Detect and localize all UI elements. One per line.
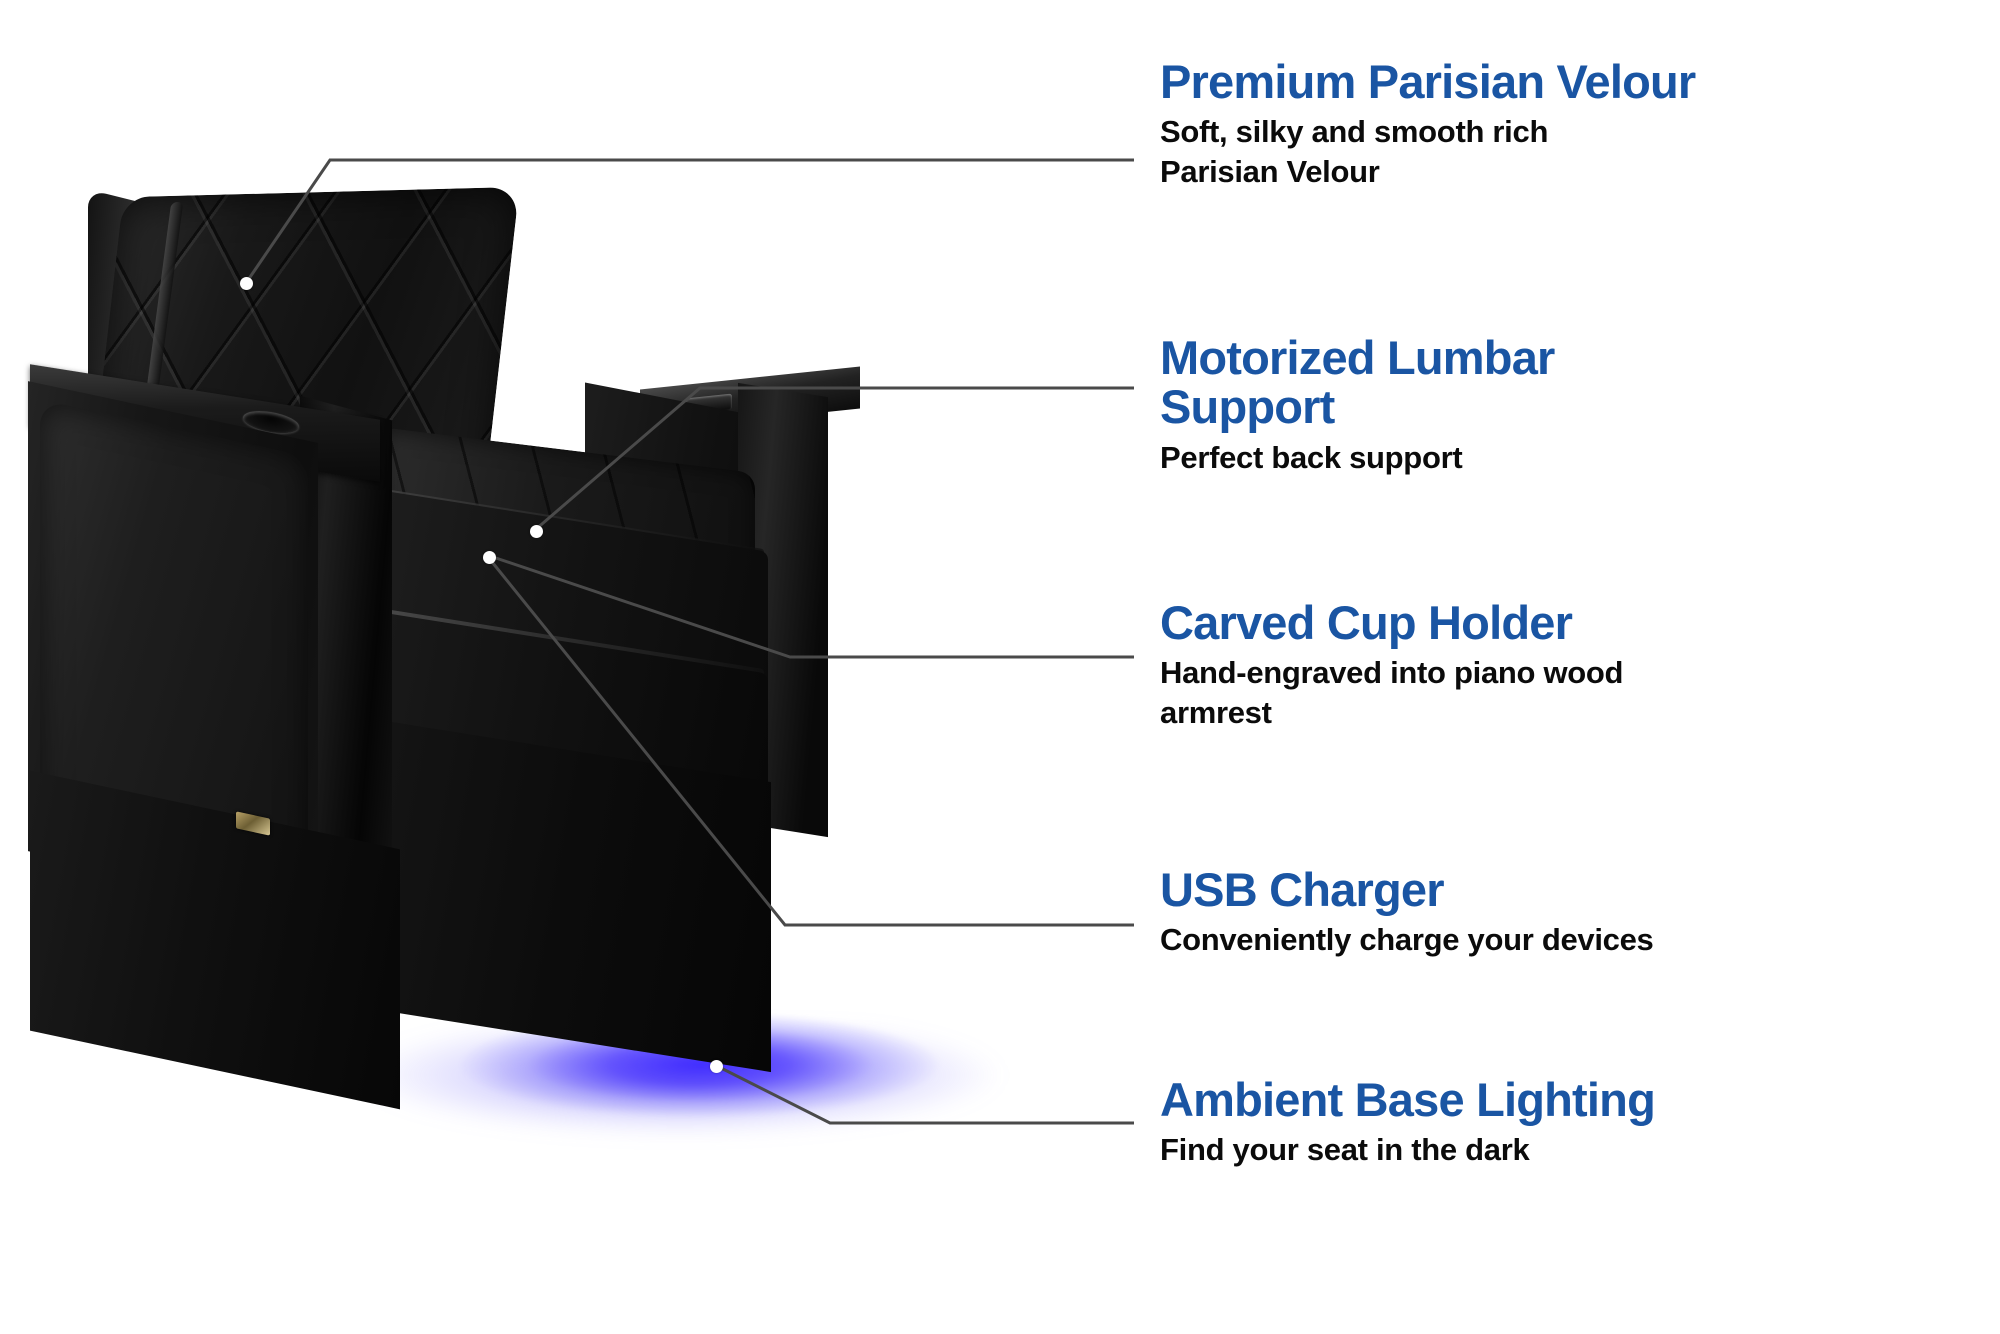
feature-description: Hand-engraved into piano wood armrest — [1160, 653, 1980, 732]
product-image — [0, 150, 1120, 1180]
feature-description-line: armrest — [1160, 695, 1272, 730]
feature-description-line: Parisian Velour — [1160, 154, 1380, 189]
feature-title: Premium Parisian Velour — [1160, 57, 1980, 106]
feature-premium-parisian-velour: Premium Parisian Velour Soft, silky and … — [1160, 57, 1980, 192]
feature-title: Ambient Base Lighting — [1160, 1075, 1980, 1124]
feature-description: Find your seat in the dark — [1160, 1130, 1980, 1170]
marker-dot-lumbar — [530, 525, 543, 538]
feature-motorized-lumbar-support: Motorized Lumbar Support Perfect back su… — [1160, 333, 1980, 477]
feature-title: USB Charger — [1160, 865, 1980, 914]
feature-description-line: Soft, silky and smooth rich — [1160, 114, 1548, 149]
feature-title: Motorized Lumbar Support — [1160, 333, 1980, 432]
feature-description: Perfect back support — [1160, 438, 1980, 478]
feature-description: Conveniently charge your devices — [1160, 920, 1980, 960]
feature-title-line: Motorized Lumbar — [1160, 331, 1555, 384]
marker-dot-cup-holder — [483, 551, 496, 564]
infographic-canvas: Premium Parisian Velour Soft, silky and … — [0, 0, 2000, 1334]
feature-list: Premium Parisian Velour Soft, silky and … — [1160, 0, 2000, 1334]
marker-dot-velour — [240, 277, 253, 290]
feature-title: Carved Cup Holder — [1160, 598, 1980, 647]
marker-dot-ambient — [710, 1060, 723, 1073]
feature-usb-charger: USB Charger Conveniently charge your dev… — [1160, 865, 1980, 960]
feature-ambient-base-lighting: Ambient Base Lighting Find your seat in … — [1160, 1075, 1980, 1170]
feature-carved-cup-holder: Carved Cup Holder Hand-engraved into pia… — [1160, 598, 1980, 733]
feature-title-line: Support — [1160, 380, 1335, 433]
feature-description: Soft, silky and smooth rich Parisian Vel… — [1160, 112, 1980, 191]
feature-description-line: Hand-engraved into piano wood — [1160, 655, 1623, 690]
